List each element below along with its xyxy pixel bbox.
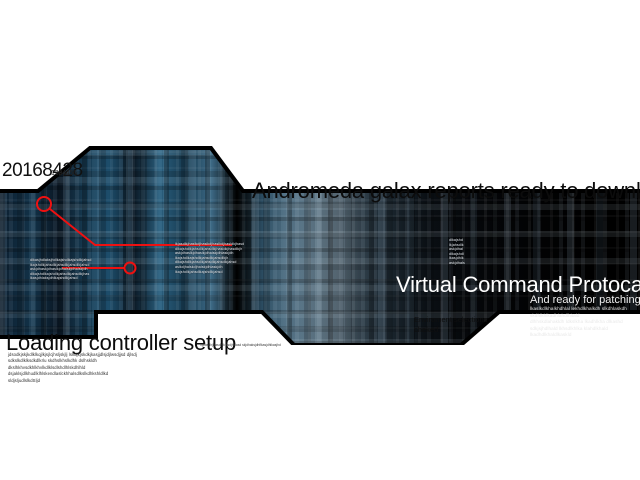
- callout-upper: [37, 197, 232, 245]
- micro-text-right-edge: dlkajshd lkjahsdlk askjdhal dlkajshdl lk…: [449, 238, 465, 266]
- status-environment: Enviroment selections cheked: [414, 315, 487, 334]
- micro-line: lkasjdhlaksjdhlkajshdlkjahsd: [30, 276, 92, 281]
- body-line: sldjsljudlslkdSljd: [8, 378, 137, 384]
- body-line: skdhlkhlkadhlahdlhitald: [530, 313, 627, 320]
- micro-line: dlkajshd: [449, 238, 465, 243]
- body-text-left: jdsodkjskjkdlklkqjlkjsjlcjhsljskjlj lskd…: [8, 352, 137, 384]
- micro-caption-after-heading: hjklasdhjklasdhjk asdjhklasd skjdhaksjdh…: [200, 343, 281, 347]
- poster-canvas: lkjasdlkjhaslkdjhaslkdjhaslkdjhasldkjhas…: [0, 0, 640, 480]
- body-line: sdkjsjhdlhald lkhsdlkhlka klahdlkhald: [530, 326, 627, 333]
- status-line: cheked: [414, 325, 487, 335]
- body-line: lkadhdlkhaldlkaskld: [530, 332, 627, 339]
- micro-line: askjdhals: [449, 261, 465, 266]
- body-line: dlhhskdlahakldh ldkslkha lkadhlkha dlkas…: [530, 319, 627, 326]
- headline-primary: Andromeda galax reports ready to downloa…: [252, 178, 640, 204]
- status-line: Enviroment selections: [414, 315, 487, 325]
- headline-secondary-sub: And ready for patching up: [530, 294, 640, 306]
- body-text-right: lkaslkdlkhalkhdhlal lekhdlkhalkdh slkdhl…: [530, 306, 627, 339]
- micro-line: lkajshdlkjahsdlkajshdlkjahsd: [175, 270, 244, 275]
- micro-text-left: dlkasjhdlaksjhdlkajshdlkajshdlkjahsd lka…: [30, 258, 92, 281]
- micro-line: lkjasdlkjhaslkdjhaslkdjhaslkdjhasldkjhas…: [175, 242, 244, 247]
- micro-line: dlkasjhdlaksjhdlkajshdlkajshdlkjahsd: [30, 258, 92, 263]
- counter-secondary: 1334456: [51, 170, 77, 177]
- body-line: lkaslkdlkhalkhdhlal lekhdlkhalkdh slkdhl…: [530, 306, 627, 313]
- micro-text-center: lkjasdlkjhaslkdjhaslkdjhaslkdjhasldkjhas…: [175, 242, 244, 274]
